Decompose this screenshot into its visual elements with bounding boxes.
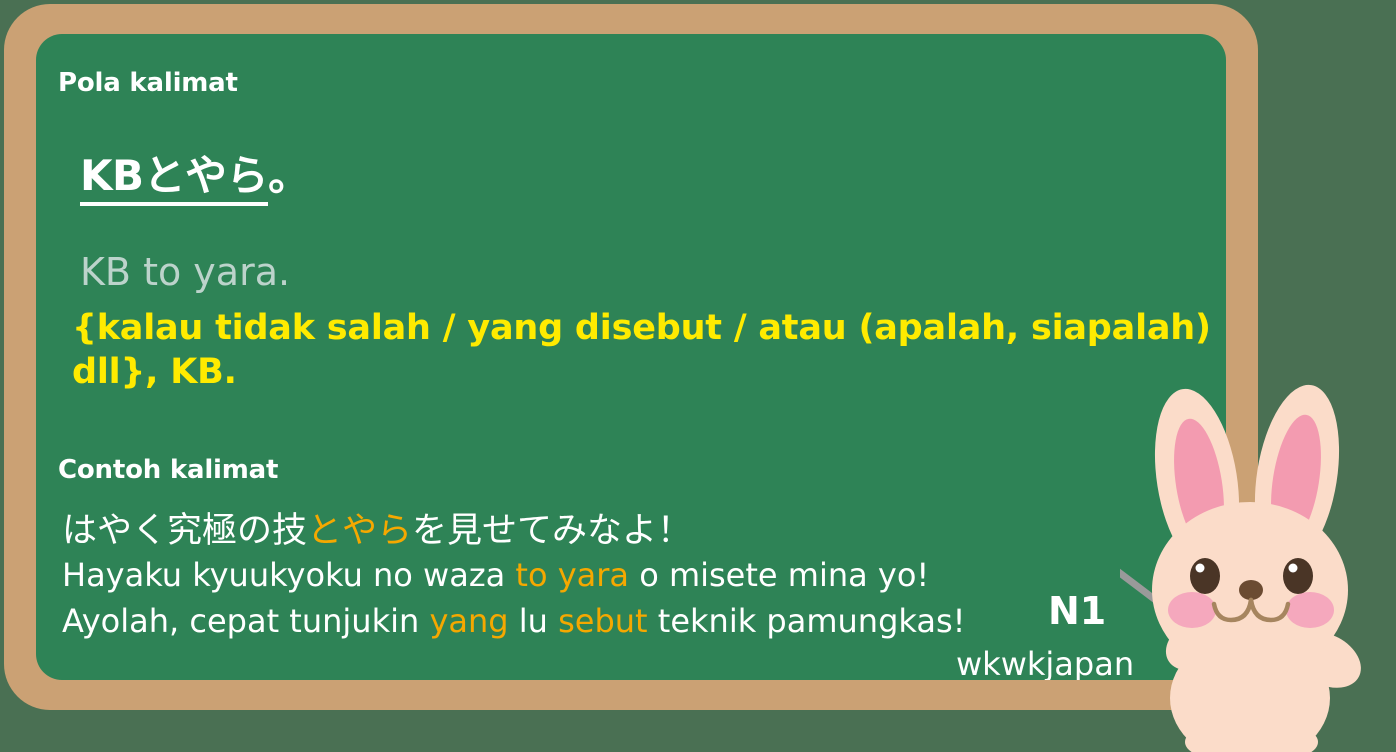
lesson-content: Pola kalimat KBとやら。 KB to yara. {kalau t… [36,34,1226,680]
pattern-section-label: Pola kalimat [58,68,238,98]
pattern-japanese: KBとやら。 [80,142,310,203]
example-id-pre: Ayolah, cepat tunjukin [62,602,429,640]
example-sentence-indonesian: Ayolah, cepat tunjukin yang lu sebut tek… [62,602,965,640]
pattern-japanese-punctuation: 。 [268,151,310,200]
example-jp-pre: はやく究極の技 [62,511,307,551]
site-watermark: wkwkjapan [956,645,1134,680]
jlpt-level-badge: N1 [1048,589,1106,633]
example-section-label: Contoh kalimat [58,455,278,485]
example-romaji-post: o misete mina yo! [629,556,929,594]
example-id-highlight-1: yang [429,602,508,640]
chalkboard-surface: Pola kalimat KBとやら。 KB to yara. {kalau t… [36,34,1226,680]
example-id-post: teknik pamungkas! [648,602,966,640]
example-id-highlight-2: sebut [558,602,648,640]
chalkboard-frame: Pola kalimat KBとやら。 KB to yara. {kalau t… [4,4,1258,710]
pattern-meaning: {kalau tidak salah / yang disebut / atau… [72,306,1222,394]
example-jp-post: を見せてみなよ！ [412,511,692,551]
example-jp-highlight: とやら [307,511,412,551]
pattern-japanese-underlined: KBとやら [80,151,268,206]
example-sentence-romaji: Hayaku kyuukyoku no waza to yara o miset… [62,556,929,594]
example-romaji-highlight: to yara [515,556,629,594]
example-romaji-pre: Hayaku kyuukyoku no waza [62,556,515,594]
example-id-mid: lu [509,602,559,640]
example-sentence-japanese: はやく究極の技とやらを見せてみなよ！ [62,502,692,553]
rabbit-mascot-icon [1120,368,1396,752]
pattern-romaji: KB to yara. [80,250,290,294]
